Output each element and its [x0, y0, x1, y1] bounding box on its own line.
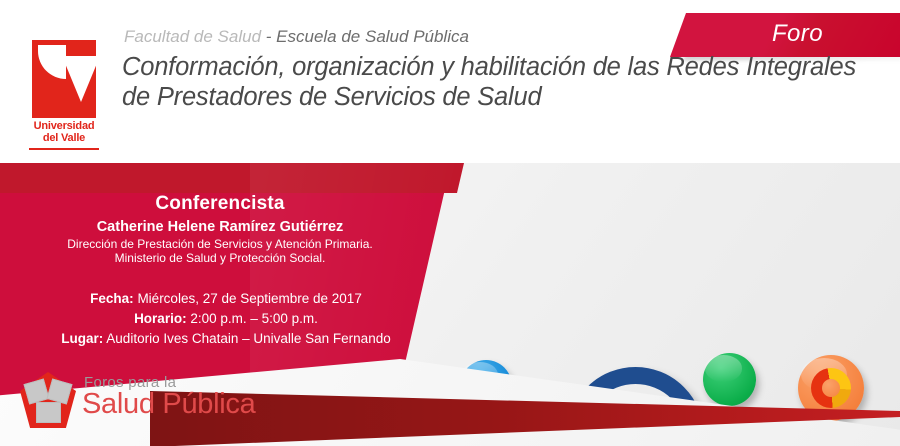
detail-row-lugar: Lugar: Auditorio Ives Chatain – Univalle…: [0, 329, 452, 349]
speaker-name: Catherine Helene Ramírez Gutiérrez: [0, 219, 440, 235]
header-kicker: Facultad de Salud - Escuela de Salud Púb…: [124, 27, 469, 47]
node-green: [703, 353, 756, 406]
foros-salud-publica-logo: Foros para la Salud Pública: [18, 368, 288, 434]
hexagon-puzzle-icon: [18, 370, 80, 430]
page-title: Conformación, organización y habilitació…: [122, 52, 882, 112]
conference-info: Conferencista Catherine Helene Ramírez G…: [0, 193, 440, 265]
univalle-logo: Universidad del Valle: [26, 40, 102, 158]
detail-label-fecha: Fecha:: [90, 291, 134, 306]
donut-chart-hole: [822, 379, 840, 397]
detail-value-fecha: Miércoles, 27 de Septiembre de 2017: [137, 291, 361, 306]
univalle-shield-icon: [32, 40, 96, 118]
univalle-underline: [29, 148, 99, 150]
event-details: Fecha: Miércoles, 27 de Septiembre de 20…: [0, 289, 452, 349]
kicker-faculty: Facultad de Salud: [124, 27, 266, 46]
poster-header: Foro Universidad del Valle Facultad de S…: [0, 0, 900, 163]
detail-value-horario: 2:00 p.m. – 5:00 p.m.: [190, 311, 318, 326]
detail-label-lugar: Lugar:: [61, 331, 103, 346]
poster-body: Conferencista Catherine Helene Ramírez G…: [0, 163, 900, 446]
speaker-org-line2: Ministerio de Salud y Protección Social.: [0, 251, 440, 265]
univalle-name-line2: del Valle: [43, 132, 85, 144]
detail-value-lugar: Auditorio Ives Chatain – Univalle San Fe…: [106, 331, 390, 346]
univalle-triangle-shape: [62, 56, 100, 102]
detail-row-horario: Horario: 2:00 p.m. – 5:00 p.m.: [0, 309, 452, 329]
univalle-logo-text: Universidad del Valle: [26, 120, 102, 144]
detail-label-horario: Horario:: [134, 311, 187, 326]
univalle-name-line1: Universidad: [34, 120, 95, 132]
speaker-org-line1: Dirección de Prestación de Servicios y A…: [0, 237, 440, 251]
conference-heading: Conferencista: [0, 193, 440, 215]
foros-logo-line2: Salud Pública: [82, 388, 255, 421]
poster-root: Foro Universidad del Valle Facultad de S…: [0, 0, 900, 446]
foro-badge-label: Foro: [772, 20, 823, 48]
kicker-school: - Escuela de Salud Pública: [266, 27, 469, 46]
puzzle-piece-3: [36, 402, 61, 423]
detail-row-fecha: Fecha: Miércoles, 27 de Septiembre de 20…: [0, 289, 452, 309]
